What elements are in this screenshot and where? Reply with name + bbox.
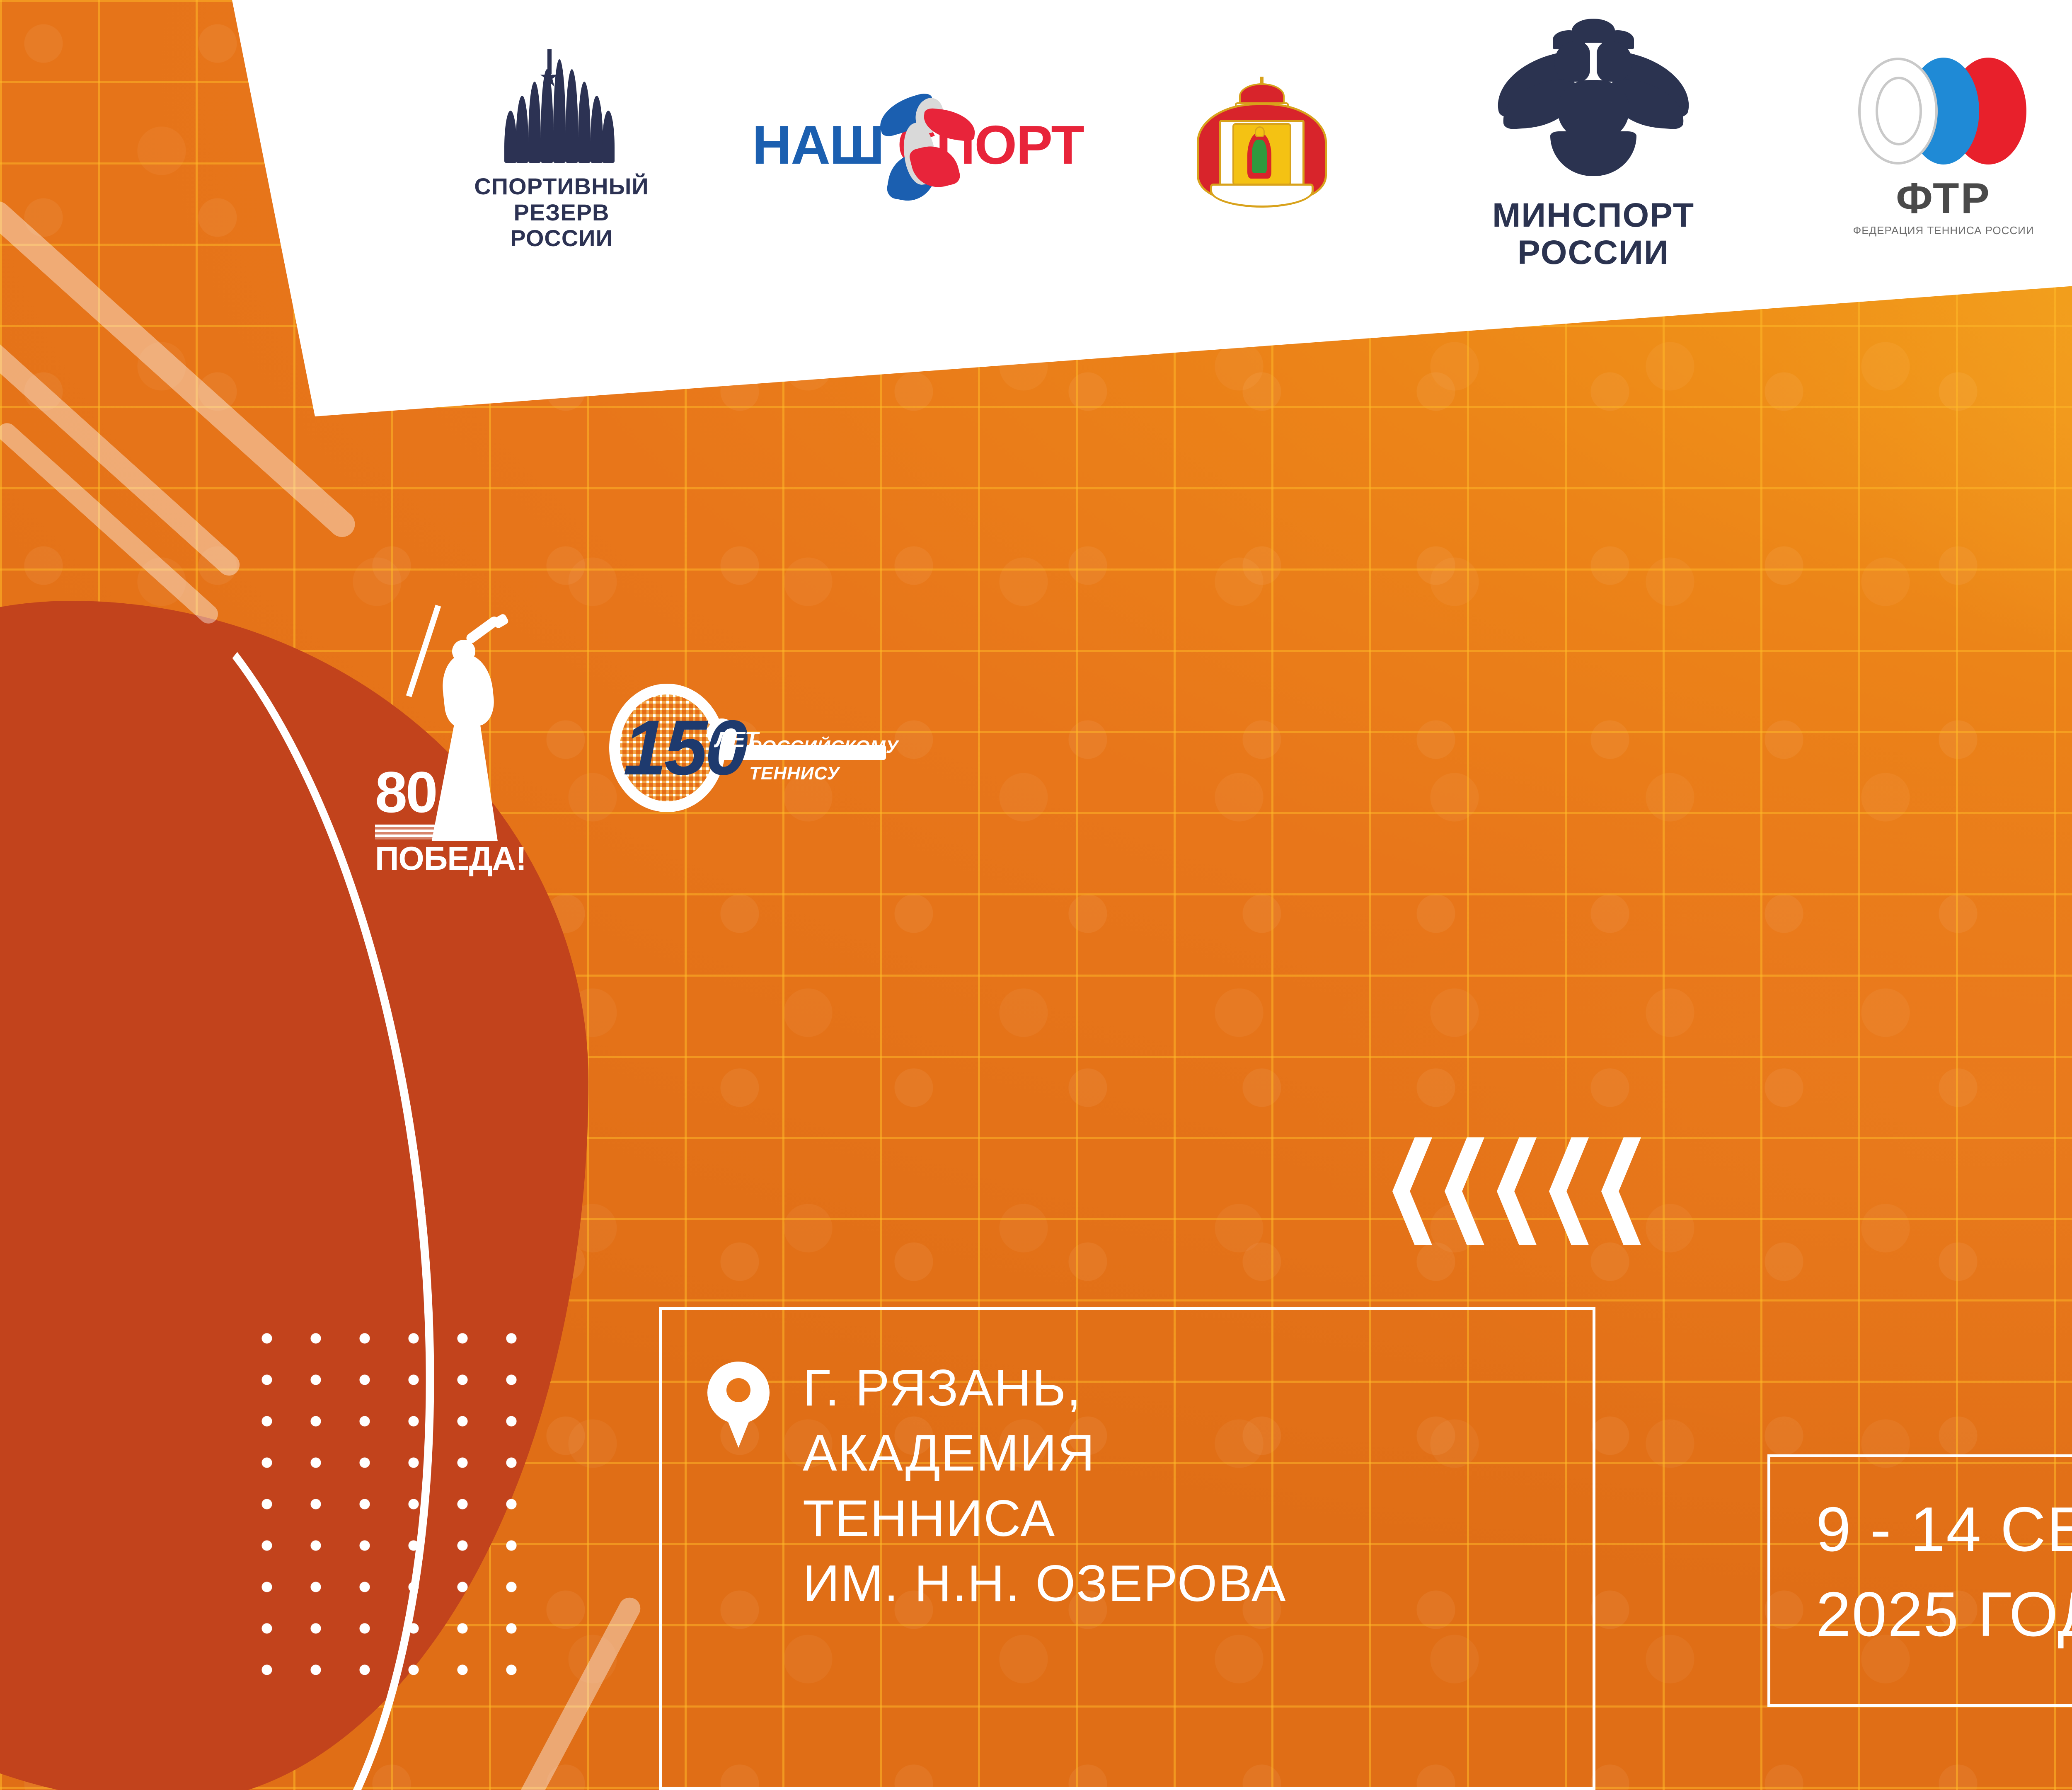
venue-line-4: ИМ. Н.Н. ОЗЕРОВА <box>803 1551 1287 1616</box>
map-pin-icon <box>707 1362 770 1449</box>
minsport-label: МИНСПОРТ РОССИИ <box>1492 197 1694 271</box>
tennis150-line1: РОССИЙСКОМУ <box>749 737 898 757</box>
dot-pattern-left <box>242 1318 528 1682</box>
nash-sport-word1: НАШ <box>752 118 884 172</box>
sport-reserve-line1: СПОРТИВНЫЙ <box>470 174 653 200</box>
title-line-1: КОМАНДНОЕ <box>2070 452 2072 606</box>
venue-line-2: АКАДЕМИЯ <box>803 1421 1287 1486</box>
badge-80-let-pobedy: 80 ПОБЕДА! <box>375 609 549 874</box>
chevron-left-icon-5 <box>1601 1137 1641 1245</box>
event-date: 9 - 14 СЕНТЯБРЯ 2025 ГОДА <box>1816 1487 2072 1657</box>
venue-box: Г. РЯЗАНЬ, АКАДЕМИЯ ТЕННИСА ИМ. Н.Н. ОЗЕ… <box>659 1307 1595 1790</box>
logo-ryazan-coat-of-arms <box>1183 77 1341 213</box>
ftr-subtitle: ФЕДЕРАЦИЯ ТЕННИСА РОССИИ <box>1853 224 2034 237</box>
date-line-1: 9 - 14 СЕНТЯБРЯ <box>1816 1487 2072 1572</box>
minsport-line2: РОССИИ <box>1492 234 1694 271</box>
badge-150-let-tennisu: 150 ЛЕТ РОССИЙСКОМУ ТЕННИСУ <box>609 684 891 820</box>
double-headed-eagle-icon <box>1490 19 1697 184</box>
ftr-ball-icon <box>1857 53 2031 169</box>
chevron-left-icon-2 <box>1445 1137 1484 1245</box>
pobeda-ribbon-bars <box>375 825 474 839</box>
venue-address: Г. РЯЗАНЬ, АКАДЕМИЯ ТЕННИСА ИМ. Н.Н. ОЗЕ… <box>803 1356 1287 1617</box>
sport-reserve-line2: РЕЗЕРВ РОССИИ <box>470 200 653 252</box>
title-line-2: ПЕРВЕНСТВО <box>2070 606 2072 760</box>
pobeda-number: 80 <box>375 763 436 821</box>
logo-sport-reserve: СПОРТИВНЫЙ РЕЗЕРВ РОССИИ <box>470 39 653 252</box>
ftr-abbr: ФТР <box>1896 177 1991 220</box>
chevron-left-icon-1 <box>1392 1137 1432 1245</box>
chevron-left-icon-3 <box>1497 1137 1537 1245</box>
logo-minsport-rossii: МИНСПОРТ РОССИИ <box>1436 19 1751 271</box>
sport-reserve-label: СПОРТИВНЫЙ РЕЗЕРВ РОССИИ <box>470 174 653 252</box>
minsport-line1: МИНСПОРТ <box>1492 197 1694 234</box>
chevron-arrows <box>1392 1137 1641 1245</box>
sport-reserve-mark-icon <box>491 39 632 163</box>
tennis150-line2: ТЕННИСУ <box>749 763 840 784</box>
event-date-box: 9 - 14 СЕНТЯБРЯ 2025 ГОДА <box>1767 1454 2072 1707</box>
chevron-left-icon-4 <box>1549 1137 1589 1245</box>
venue-line-1: Г. РЯЗАНЬ, <box>803 1356 1287 1421</box>
title-line-3: РОССИИ <box>2070 760 2072 914</box>
poster-title: КОМАНДНОЕ ПЕРВЕНСТВО РОССИИ <box>1978 452 2072 914</box>
running-figure-icon <box>880 83 900 207</box>
ryazan-crest-icon <box>1193 77 1330 213</box>
logo-ftr: ФТР ФЕДЕРАЦИЯ ТЕННИСА РОССИИ <box>1846 53 2041 237</box>
venue-line-3: ТЕННИСА <box>803 1486 1287 1551</box>
partner-logo-row: СПОРТИВНЫЙ РЕЗЕРВ РОССИИ НАШ СПОРТ <box>0 0 2072 290</box>
logo-nash-sport: НАШ СПОРТ <box>748 83 1088 207</box>
event-poster: СПОРТИВНЫЙ РЕЗЕРВ РОССИИ НАШ СПОРТ <box>0 0 2072 1790</box>
date-line-2: 2025 ГОДА <box>1816 1572 2072 1657</box>
pobeda-word: ПОБЕДА! <box>375 842 526 875</box>
